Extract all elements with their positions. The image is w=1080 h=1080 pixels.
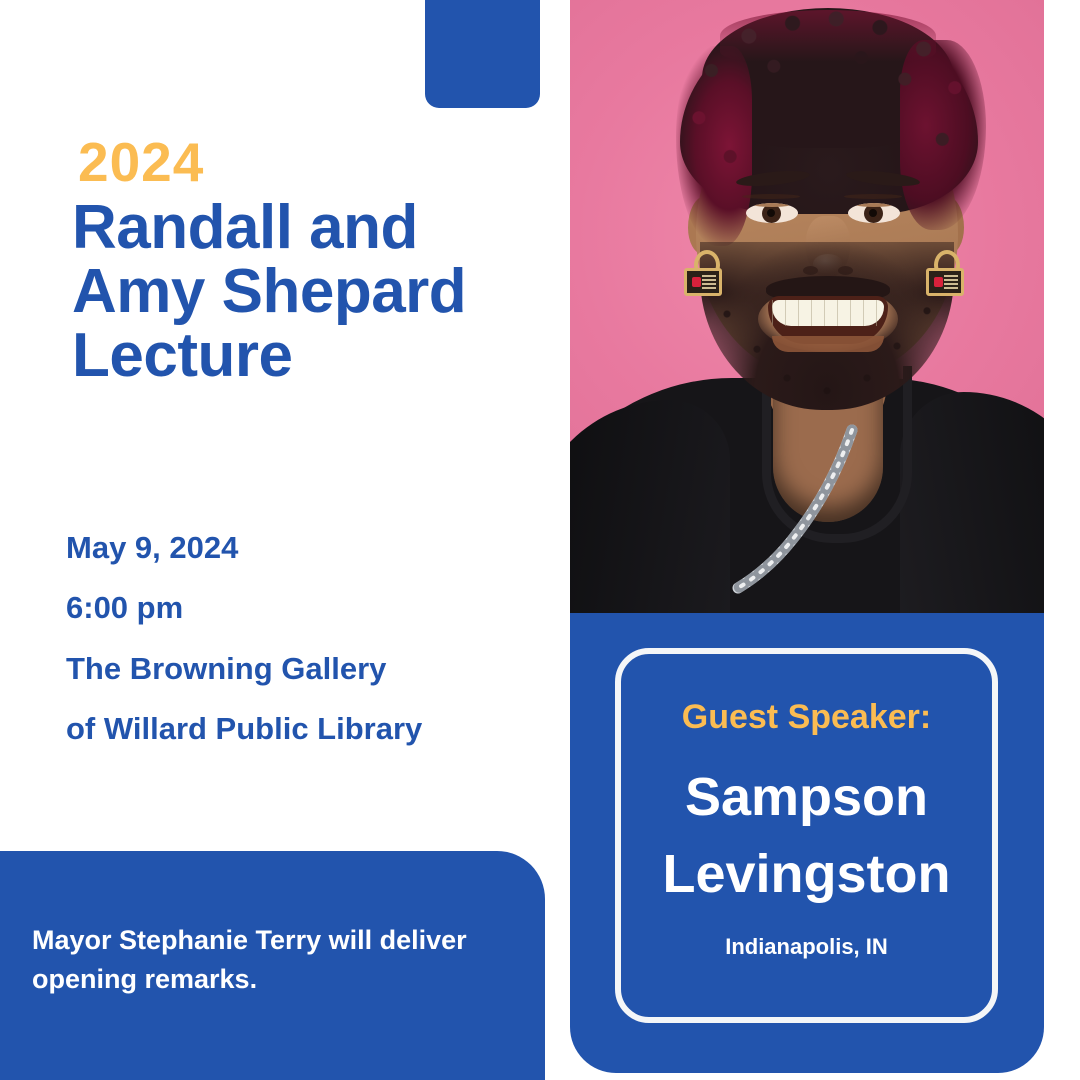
event-venue-line-1: The Browning Gallery: [66, 639, 556, 699]
mayor-remarks-text: Mayor Stephanie Terry will deliver openi…: [32, 921, 492, 999]
poster-right-column: Guest Speaker: Sampson Levingston Indian…: [570, 0, 1044, 1080]
mayor-remarks-box: Mayor Stephanie Terry will deliver openi…: [0, 851, 545, 1080]
title-line-2: Amy Shepard: [72, 260, 572, 324]
portrait-subject: [570, 0, 1044, 614]
speaker-blue-panel: Guest Speaker: Sampson Levingston Indian…: [570, 613, 1044, 1073]
speaker-first-name: Sampson: [621, 759, 992, 836]
event-time: 6:00 pm: [66, 578, 556, 638]
speaker-name: Sampson Levingston: [621, 759, 992, 912]
event-venue-line-2: of Willard Public Library: [66, 699, 556, 759]
speaker-last-name: Levingston: [621, 836, 992, 913]
guest-speaker-label: Guest Speaker:: [621, 698, 992, 737]
page-title: Randall and Amy Shepard Lecture: [72, 196, 572, 388]
silver-chain-necklace: [570, 0, 1044, 614]
speaker-city: Indianapolis, IN: [621, 934, 992, 960]
event-details: May 9, 2024 6:00 pm The Browning Gallery…: [66, 518, 556, 760]
title-line-3: Lecture: [72, 324, 572, 388]
event-date: May 9, 2024: [66, 518, 556, 578]
poster-left-column: 2024 Randall and Amy Shepard Lecture May…: [0, 0, 570, 1080]
title-line-1: Randall and: [72, 196, 572, 260]
speaker-portrait-photo: [570, 0, 1044, 614]
speaker-card: Guest Speaker: Sampson Levingston Indian…: [615, 648, 998, 1023]
event-year: 2024: [78, 135, 204, 190]
event-poster: 2024 Randall and Amy Shepard Lecture May…: [0, 0, 1080, 1080]
